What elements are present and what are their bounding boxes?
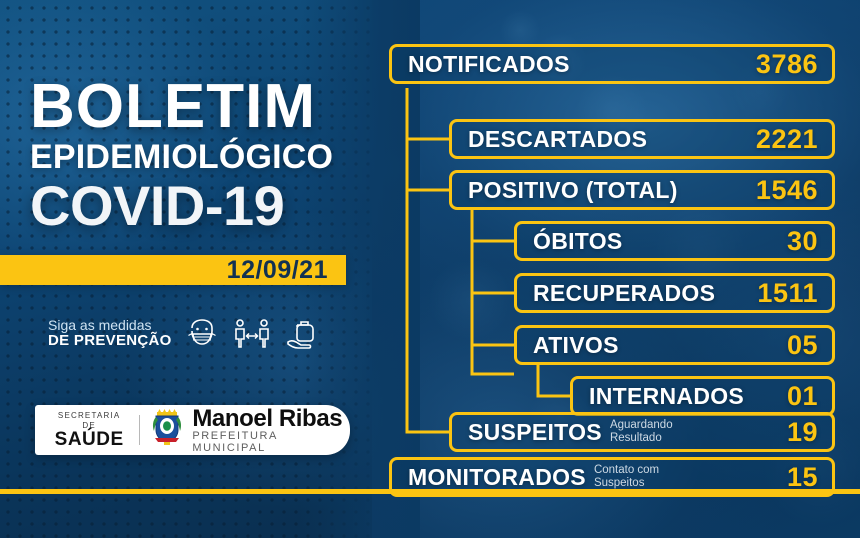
stat-box-recuperados: RECUPERADOS1511 [514, 273, 835, 313]
stat-box-descartados: DESCARTADOS2221 [449, 119, 835, 159]
stat-value: 05 [787, 330, 818, 361]
stat-label: ATIVOS [533, 332, 619, 359]
stat-sublabel: Aguardando Resultado [610, 419, 673, 445]
stat-box-suspeitos: SUSPEITOSAguardando Resultado19 [449, 412, 835, 452]
stat-value: 2221 [756, 124, 818, 155]
stat-label: DESCARTADOS [468, 126, 647, 153]
stat-box-bitos: ÓBITOS30 [514, 221, 835, 261]
stat-box-positivo-total: POSITIVO (TOTAL)1546 [449, 170, 835, 210]
bottom-accent-rule [0, 489, 860, 494]
stat-label: SUSPEITOS [468, 419, 602, 446]
statistics-tree: NOTIFICADOS3786DESCARTADOS2221POSITIVO (… [0, 0, 860, 538]
stat-label: POSITIVO (TOTAL) [468, 177, 678, 204]
stat-value: 15 [787, 462, 818, 493]
stat-label: ÓBITOS [533, 228, 623, 255]
stat-value: 1546 [756, 175, 818, 206]
stat-box-internados: INTERNADOS01 [570, 376, 835, 416]
stat-value: 3786 [756, 49, 818, 80]
bulletin-poster: BOLETIM EPIDEMIOLÓGICO COVID-19 12/09/21… [0, 0, 860, 538]
stat-label: MONITORADOS [408, 464, 586, 491]
stat-sublabel: Contato com Suspeitos [594, 464, 659, 490]
stat-label: NOTIFICADOS [408, 51, 570, 78]
stat-value: 01 [787, 381, 818, 412]
stat-box-notificados: NOTIFICADOS3786 [389, 44, 835, 84]
stat-value: 30 [787, 226, 818, 257]
stat-box-ativos: ATIVOS05 [514, 325, 835, 365]
stat-value: 1511 [757, 278, 818, 309]
stat-label: INTERNADOS [589, 383, 744, 410]
stat-label: RECUPERADOS [533, 280, 715, 307]
stat-value: 19 [787, 417, 818, 448]
